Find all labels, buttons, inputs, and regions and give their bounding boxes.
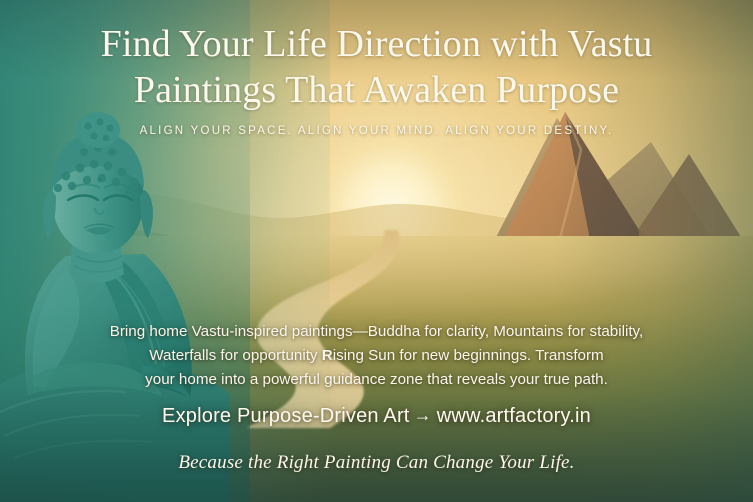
body-line-1: Bring home Vastu-inspired paintings—Budd… xyxy=(110,323,644,340)
body-line-2-prefix: Waterfalls for opportunity xyxy=(149,347,321,364)
body-line-2-emphasis: R xyxy=(322,347,333,364)
banner-content: Find Your Life Direction with Vastu Pain… xyxy=(0,0,753,502)
body-copy: Bring home Vastu-inspired paintings—Budd… xyxy=(62,320,692,392)
cta-line[interactable]: Explore Purpose-Driven Art→www.artfactor… xyxy=(162,405,591,428)
headline: Find Your Life Direction with Vastu Pain… xyxy=(57,22,697,114)
cta-url[interactable]: www.artfactory.in xyxy=(437,405,591,427)
body-line-2-suffix: ising Sun for new beginnings. Transform xyxy=(333,347,604,364)
arrow-right-icon: → xyxy=(414,405,432,426)
cta-label[interactable]: Explore Purpose-Driven Art xyxy=(162,405,410,427)
body-line-3: your home into a powerful guidance zone … xyxy=(145,371,608,388)
vastu-promo-banner: Find Your Life Direction with Vastu Pain… xyxy=(0,0,753,502)
tagline: Because the Right Painting Can Change Yo… xyxy=(178,452,574,474)
subheadline: ALIGN YOUR SPACE. ALIGN YOUR MIND. ALIGN… xyxy=(140,125,614,137)
